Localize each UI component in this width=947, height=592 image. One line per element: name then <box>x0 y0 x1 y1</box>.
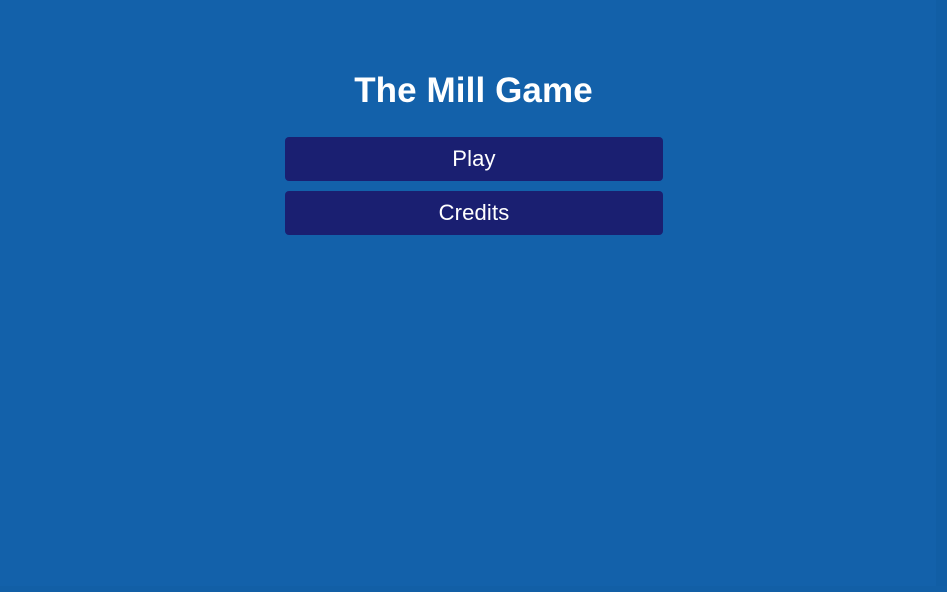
play-button-label: Play <box>452 146 495 172</box>
play-button[interactable]: Play <box>285 137 663 181</box>
credits-button[interactable]: Credits <box>285 191 663 235</box>
credits-button-label: Credits <box>439 200 510 226</box>
main-menu-screen: The Mill Game Play Credits <box>0 0 947 592</box>
main-menu-button-group: Play Credits <box>285 137 663 235</box>
game-window: The Mill Game Play Credits <box>0 0 947 592</box>
page-title: The Mill Game <box>0 70 947 112</box>
